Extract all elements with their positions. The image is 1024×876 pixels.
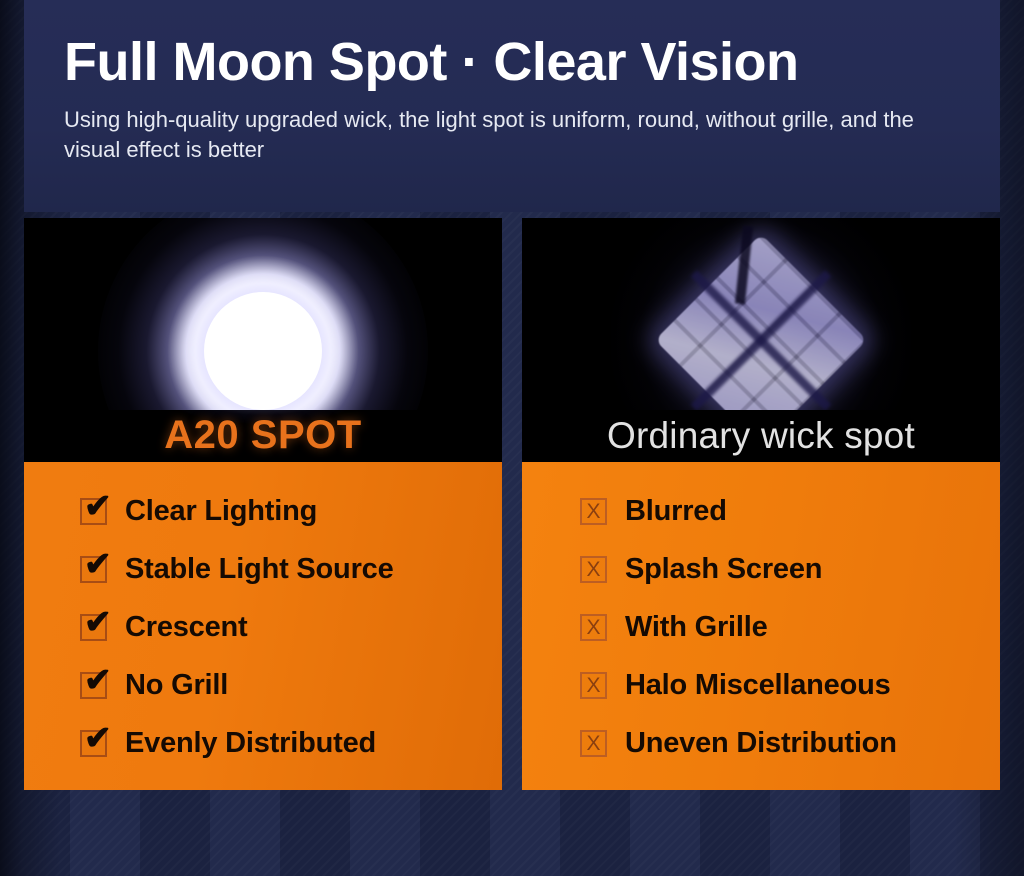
list-item: X Splash Screen (580, 540, 1000, 598)
feature-label: Halo Miscellaneous (625, 669, 891, 702)
feature-label: Stable Light Source (125, 553, 394, 586)
cross-icon: X (580, 614, 607, 641)
cross-glyph: X (582, 674, 605, 697)
caption-label-a20: A20 SPOT (164, 413, 361, 458)
check-icon: ✔ (80, 672, 107, 699)
list-item: X Blurred (580, 482, 1000, 540)
feature-label: Blurred (625, 495, 727, 528)
caption-band-a20: A20 SPOT (24, 410, 502, 462)
check-glyph: ✔ (84, 489, 118, 523)
check-icon: ✔ (80, 614, 107, 641)
feature-label: Evenly Distributed (125, 727, 376, 760)
list-item: ✔ Evenly Distributed (80, 714, 502, 772)
cross-glyph: X (582, 616, 605, 639)
beam-photo-ordinary (522, 218, 1000, 410)
header-banner: Full Moon Spot · Clear Vision Using high… (24, 0, 1000, 212)
feature-label: Splash Screen (625, 553, 822, 586)
feature-label: Clear Lighting (125, 495, 317, 528)
page-subtitle: Using high-quality upgraded wick, the li… (64, 105, 924, 164)
check-glyph: ✔ (84, 721, 118, 755)
comparison-cards: A20 SPOT ✔ Clear Lighting ✔ Stable Light… (24, 218, 1000, 790)
check-icon: ✔ (80, 730, 107, 757)
feature-list-ordinary: X Blurred X Splash Screen X With Grille (522, 462, 1000, 790)
cross-icon: X (580, 556, 607, 583)
list-item: X Halo Miscellaneous (580, 656, 1000, 714)
caption-band-ordinary: Ordinary wick spot (522, 410, 1000, 462)
cross-glyph: X (582, 500, 605, 523)
check-glyph: ✔ (84, 547, 118, 581)
check-glyph: ✔ (84, 663, 118, 697)
feature-label: Crescent (125, 611, 248, 644)
list-item: ✔ Stable Light Source (80, 540, 502, 598)
cross-icon: X (580, 672, 607, 699)
check-icon: ✔ (80, 556, 107, 583)
page-background: Full Moon Spot · Clear Vision Using high… (0, 0, 1024, 876)
grille-beam-graphic (611, 218, 911, 410)
card-ordinary-wick-spot: Ordinary wick spot X Blurred X Splash Sc… (522, 218, 1000, 790)
card-a20-spot: A20 SPOT ✔ Clear Lighting ✔ Stable Light… (24, 218, 502, 790)
list-item: X Uneven Distribution (580, 714, 1000, 772)
check-glyph: ✔ (84, 605, 118, 639)
page-title: Full Moon Spot · Clear Vision (64, 34, 960, 91)
feature-list-a20: ✔ Clear Lighting ✔ Stable Light Source ✔… (24, 462, 502, 790)
cross-icon: X (580, 498, 607, 525)
cross-glyph: X (582, 558, 605, 581)
cross-glyph: X (582, 732, 605, 755)
feature-label: With Grille (625, 611, 768, 644)
feature-label: Uneven Distribution (625, 727, 897, 760)
check-icon: ✔ (80, 498, 107, 525)
list-item: ✔ No Grill (80, 656, 502, 714)
beam-photo-a20 (24, 218, 502, 410)
moon-core-spot (204, 292, 322, 410)
cross-icon: X (580, 730, 607, 757)
caption-label-ordinary: Ordinary wick spot (607, 415, 915, 457)
list-item: ✔ Clear Lighting (80, 482, 502, 540)
feature-label: No Grill (125, 669, 228, 702)
list-item: ✔ Crescent (80, 598, 502, 656)
list-item: X With Grille (580, 598, 1000, 656)
